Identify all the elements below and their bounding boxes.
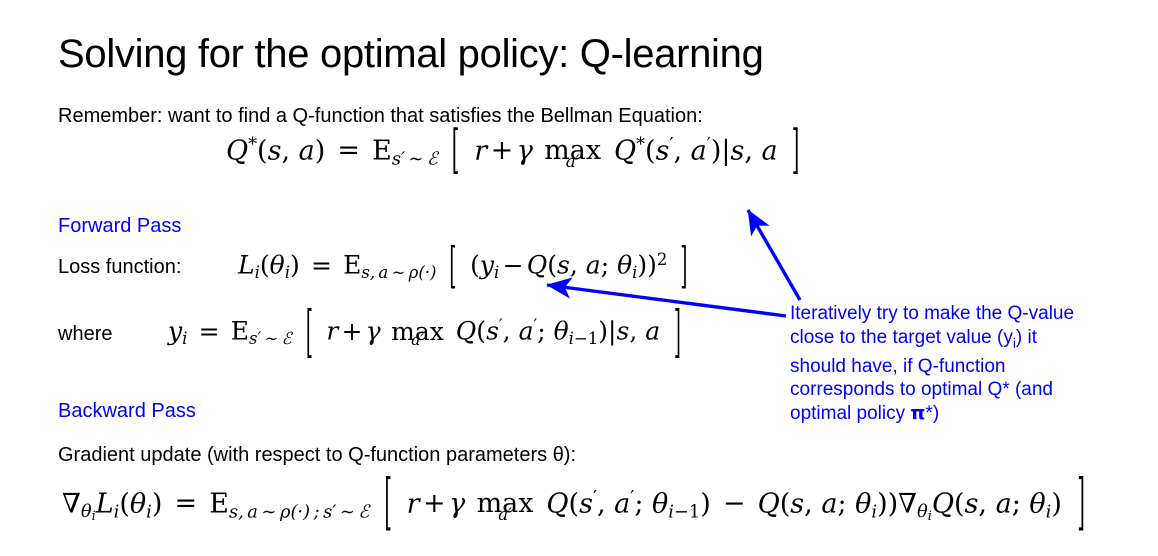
gradient-update-text: Gradient update (with respect to Q-funct… <box>58 443 576 467</box>
pi-symbol: π <box>910 402 925 424</box>
forward-pass-heading: Forward Pass <box>58 214 181 238</box>
annotation-line-2-pre: close to the target value (y <box>790 327 1013 348</box>
arrow-to-loss-function <box>547 285 786 316</box>
slide-canvas: Solving for the optimal policy: Q-learni… <box>0 0 1158 556</box>
intro-text: Remember: want to find a Q-function that… <box>58 104 703 128</box>
annotation-line-2-post: ) it <box>1016 327 1037 348</box>
annotation-line-3: should have, if Q-function <box>790 355 1146 379</box>
backward-pass-heading: Backward Pass <box>58 399 196 423</box>
arrow-to-bellman-equation <box>748 210 800 300</box>
annotation-line-5-post: *) <box>925 403 939 424</box>
gradient-equation: ∇θiLi(θi) = Es, a ∼ ρ(·) ; s′ ∼ ℰ [ r+γ … <box>62 489 1091 524</box>
page-title: Solving for the optimal policy: Q-learni… <box>58 31 764 77</box>
loss-function-equation: Li(θi) = Es, a ∼ ρ(·) [ (yi−Q(s, a; θi))… <box>238 252 693 282</box>
annotation-callout: Iteratively try to make the Q-value clos… <box>790 302 1146 425</box>
annotation-line-4: corresponds to optimal Q* (and <box>790 378 1146 402</box>
bellman-equation: Q*(s, a) = Es′ ∼ ℰ [ r+γ maxa′ Q*(s′, a′… <box>226 136 805 168</box>
where-label: where <box>58 322 112 346</box>
loss-function-label: Loss function: <box>58 255 181 279</box>
annotation-line-5: optimal policy π*) <box>790 402 1146 426</box>
target-value-equation: yi = Es′ ∼ ℰ [ r+γ maxa′ Q(s′, a′; θi−1)… <box>168 318 687 348</box>
annotation-line-2: close to the target value (yi) it <box>790 326 1146 355</box>
annotation-line-1: Iteratively try to make the Q-value <box>790 302 1146 326</box>
annotation-line-5-pre: optimal policy <box>790 403 910 424</box>
